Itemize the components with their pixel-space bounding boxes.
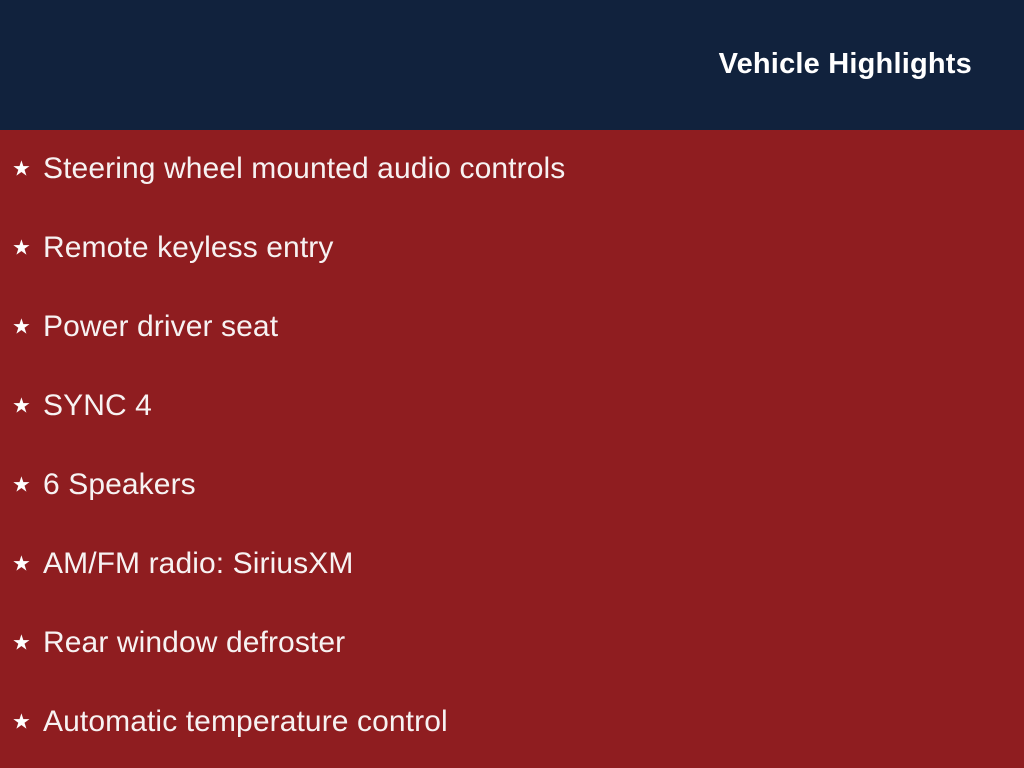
list-item-label: Power driver seat xyxy=(43,309,278,345)
list-item: ★ Steering wheel mounted audio controls xyxy=(0,130,1024,209)
list-item: ★ SYNC 4 xyxy=(0,367,1024,446)
list-item-label: Steering wheel mounted audio controls xyxy=(43,151,565,187)
list-item-label: Automatic temperature control xyxy=(43,704,448,740)
list-item-label: Rear window defroster xyxy=(43,625,345,661)
list-item-label: 6 Speakers xyxy=(43,467,196,503)
star-bullet-icon: ★ xyxy=(12,632,34,653)
star-bullet-icon: ★ xyxy=(12,475,34,496)
list-item: ★ Power driver seat xyxy=(0,288,1024,367)
star-bullet-icon: ★ xyxy=(12,711,34,732)
list-item: ★ Remote keyless entry xyxy=(0,209,1024,288)
slide-body: ★ Steering wheel mounted audio controls … xyxy=(0,130,1024,768)
list-item-label: Remote keyless entry xyxy=(43,230,333,266)
star-bullet-icon: ★ xyxy=(12,396,34,417)
list-item-label: SYNC 4 xyxy=(43,388,152,424)
page-title: Vehicle Highlights xyxy=(719,46,972,82)
star-bullet-icon: ★ xyxy=(12,238,34,259)
star-bullet-icon: ★ xyxy=(12,317,34,338)
list-item-label: AM/FM radio: SiriusXM xyxy=(43,546,353,582)
vehicle-highlights-slide: Vehicle Highlights ★ Steering wheel moun… xyxy=(0,0,1024,768)
list-item: ★ Automatic temperature control xyxy=(0,682,1024,761)
star-bullet-icon: ★ xyxy=(12,159,34,180)
list-item: ★ Rear window defroster xyxy=(0,603,1024,682)
list-item: ★ AM/FM radio: SiriusXM xyxy=(0,524,1024,603)
list-item: ★ 6 Speakers xyxy=(0,446,1024,525)
vehicle-feature-list: ★ Steering wheel mounted audio controls … xyxy=(0,130,1024,761)
star-bullet-icon: ★ xyxy=(12,553,34,574)
slide-header: Vehicle Highlights xyxy=(0,0,1024,130)
